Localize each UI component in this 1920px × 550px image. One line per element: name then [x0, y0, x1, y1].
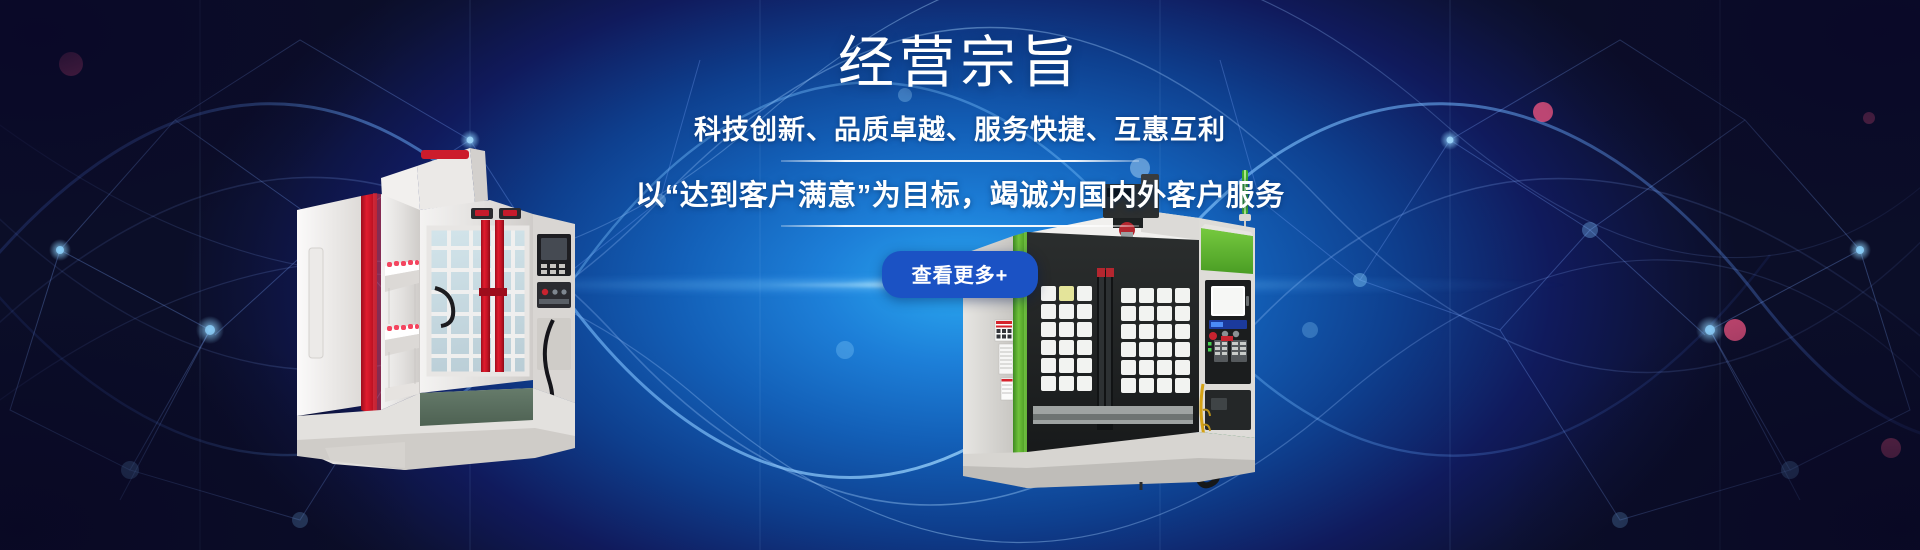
divider-bottom [781, 225, 1139, 227]
divider-top [781, 160, 1139, 162]
page-title: 经营宗旨 [0, 30, 1920, 96]
banner-tagline: 以“达到客户满意”为目标，竭诚为国内外客户服务 [0, 172, 1920, 214]
hero-banner: 经营宗旨 科技创新、品质卓越、服务快捷、互惠互利 以“达到客户满意”为目标，竭诚… [0, 0, 1920, 550]
banner-subtitle: 科技创新、品质卓越、服务快捷、互惠互利 [0, 108, 1920, 147]
banner-text-block: 经营宗旨 科技创新、品质卓越、服务快捷、互惠互利 以“达到客户满意”为目标，竭诚… [0, 0, 1920, 298]
view-more-button[interactable]: 查看更多+ [882, 251, 1039, 298]
